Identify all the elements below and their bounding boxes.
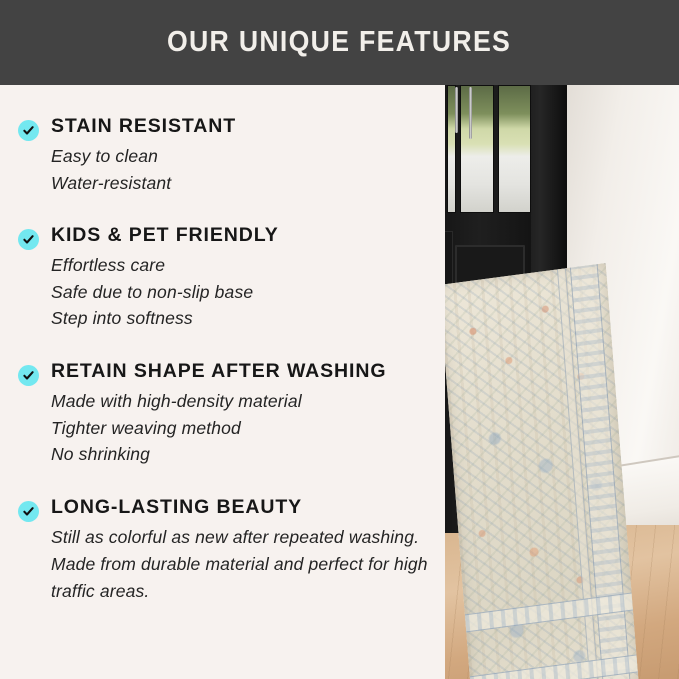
- feature-item-retain-shape: RETAIN SHAPE AFTER WASHING Made with hig…: [18, 360, 435, 468]
- header-bar: OUR UNIQUE FEATURES: [0, 0, 679, 85]
- photo-scene: [445, 85, 679, 679]
- door-side-panel: [445, 231, 453, 291]
- floral-area-rug: [445, 263, 639, 679]
- feature-title: KIDS & PET FRIENDLY: [51, 224, 435, 247]
- feature-line: No shrinking: [51, 441, 435, 468]
- check-circle-icon: [18, 501, 39, 522]
- feature-text: KIDS & PET FRIENDLY Effortless care Safe…: [51, 224, 435, 332]
- feature-title: RETAIN SHAPE AFTER WASHING: [51, 360, 435, 383]
- check-circle-icon: [18, 120, 39, 141]
- rug-border-band: [470, 654, 638, 679]
- feature-title: STAIN RESISTANT: [51, 115, 435, 138]
- entryway-rug-photo: [445, 85, 679, 679]
- feature-item-long-lasting-beauty: LONG-LASTING BEAUTY Still as colorful as…: [18, 496, 435, 606]
- feature-line: Easy to clean: [51, 143, 435, 170]
- glass-pane: [498, 85, 532, 213]
- check-circle-icon: [18, 229, 39, 250]
- features-panel: STAIN RESISTANT Easy to clean Water-resi…: [0, 85, 445, 679]
- panel-divider-gap: [435, 85, 445, 679]
- feature-item-kids-pet-friendly: KIDS & PET FRIENDLY Effortless care Safe…: [18, 224, 435, 332]
- body-area: STAIN RESISTANT Easy to clean Water-resi…: [0, 85, 679, 679]
- chrome-door-handle: [469, 87, 472, 139]
- glass-pane: [460, 85, 494, 213]
- feature-line: Effortless care: [51, 252, 435, 279]
- feature-line: Water-resistant: [51, 170, 435, 197]
- door-glass-panes: [447, 85, 531, 213]
- feature-item-stain-resistant: STAIN RESISTANT Easy to clean Water-resi…: [18, 115, 435, 196]
- feature-line: Tighter weaving method: [51, 415, 435, 442]
- feature-paragraph: Still as colorful as new after repeated …: [51, 524, 431, 606]
- feature-line: Made with high-density material: [51, 388, 435, 415]
- feature-text: LONG-LASTING BEAUTY Still as colorful as…: [51, 496, 435, 606]
- feature-title: LONG-LASTING BEAUTY: [51, 496, 435, 519]
- feature-text: STAIN RESISTANT Easy to clean Water-resi…: [51, 115, 435, 196]
- feature-line: Step into softness: [51, 305, 435, 332]
- check-circle-icon: [18, 365, 39, 386]
- feature-text: RETAIN SHAPE AFTER WASHING Made with hig…: [51, 360, 435, 468]
- chrome-door-handle: [455, 87, 458, 133]
- infographic-root: OUR UNIQUE FEATURES STAIN RESISTANT Easy…: [0, 0, 679, 679]
- feature-line: Safe due to non-slip base: [51, 279, 435, 306]
- page-title: OUR UNIQUE FEATURES: [167, 28, 511, 57]
